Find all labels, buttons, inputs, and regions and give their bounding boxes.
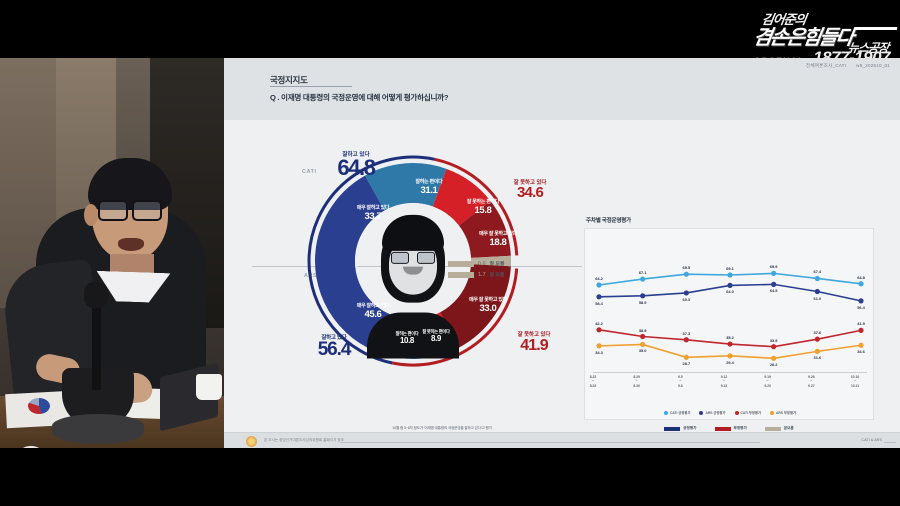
title-underline — [270, 86, 352, 87]
legend-dot-icon — [664, 411, 668, 415]
segment-label-ars-strong-positive: 매우 잘하고 있다 45.6 — [338, 304, 408, 320]
segment-label-ars-strong-negative: 매우 잘 못하고 있다 33.0 — [450, 298, 526, 314]
line-point-label: 56.4 — [857, 305, 865, 310]
segment-value: 8.9 — [422, 335, 450, 344]
total-negative-ars-value: 41.9 — [488, 338, 580, 353]
host-glasses-right-lens — [132, 200, 162, 221]
slide-meta-right: w5_202510_01 — [856, 63, 890, 69]
host-glasses-bridge — [128, 208, 134, 210]
legend-swatch-icon — [765, 427, 781, 431]
total-negative-cati: 잘 못하고 있다 34.6 — [484, 178, 576, 200]
donut-chart-legend: 긍정평가부정평가잘모름 — [584, 426, 874, 431]
dont-know-caption: 잘 모름 — [490, 260, 505, 267]
segment-value: 33.7 — [340, 212, 406, 222]
segment-value: 31.1 — [398, 186, 460, 196]
line-point-label: 37.3 — [683, 331, 691, 336]
line-point-label: 34.6 — [857, 349, 865, 354]
line-chart-card: 64.267.169.569.169.967.464.858.458.960.3… — [584, 228, 874, 420]
footer-right-label: CATI & ARS — [861, 438, 882, 442]
line-point-label: 28.7 — [683, 361, 691, 366]
segment-label-cati-strong-negative: 매우 잘 못하고 있다 18.8 — [460, 232, 536, 248]
legend-dot-icon — [770, 411, 774, 415]
desk-cup — [196, 374, 222, 400]
footer-emblem-icon — [246, 436, 257, 447]
line-point-label: 35.0 — [639, 348, 647, 353]
line-point-label: 58.9 — [639, 300, 647, 305]
legend-swatch-icon — [664, 427, 680, 431]
microphone-base — [52, 414, 144, 444]
line-chart-x-tick-labels: 8.22~8.238.29~8.309.5~9.69.12~9.139.19~9… — [593, 375, 867, 395]
line-point-label: 60.3 — [683, 297, 691, 302]
segment-value: 33.0 — [450, 304, 526, 314]
dont-know-value: 1.7 — [478, 272, 486, 278]
microphone-stem — [92, 294, 101, 390]
footer-divider-right — [884, 442, 896, 443]
studio-video-pane — [0, 58, 224, 448]
legend-swatch-icon — [715, 427, 731, 431]
segment-label-ars-negative: 잘 못하는 편이다 8.9 — [422, 330, 450, 344]
donut-legend-item: 긍정평가 — [664, 426, 696, 431]
dont-know-swatch — [448, 261, 474, 267]
line-x-tick: 9.26~9.27 — [796, 375, 826, 388]
legend-label: CATI 부정평가 — [741, 410, 762, 415]
slide-footer: 본 조사는 중앙선거여론조사심의위원회 홈페이지 참조 CATI & ARS — [224, 432, 900, 448]
slide-title: 국정지지도 — [270, 74, 308, 86]
line-point-label: 64.2 — [595, 276, 603, 281]
line-chart-x-axis — [593, 372, 867, 373]
line-point-label: 28.2 — [770, 362, 778, 367]
line-point-label: 67.4 — [814, 269, 822, 274]
line-point-label: 42.2 — [595, 321, 603, 326]
segment-value: 15.8 — [450, 206, 516, 216]
slide-meta-left: 전체여론조사_CATI — [806, 63, 846, 69]
line-x-tick: 8.22~8.23 — [578, 375, 608, 388]
line-point-label: 58.4 — [595, 301, 603, 306]
line-x-tick: 9.5~9.6 — [665, 375, 695, 388]
legend-label: ARS 긍정평가 — [705, 410, 725, 415]
line-x-tick: 10.10~10.11 — [840, 375, 870, 388]
donut-legend-item: 잘모름 — [765, 426, 794, 431]
footer-divider — [340, 442, 760, 443]
legend-label: 잘모름 — [784, 426, 794, 431]
line-point-label: 67.1 — [639, 270, 647, 275]
line-point-label: 34.3 — [595, 350, 603, 355]
donut-legend-item: 부정평가 — [715, 426, 747, 431]
segment-label-cati-strong-positive: 매우 잘하고 있다 33.7 — [340, 206, 406, 222]
line-point-label: 31.6 — [814, 355, 822, 360]
legend-label: ARS 부정평가 — [776, 410, 796, 415]
line-point-label: 38.9 — [639, 328, 647, 333]
line-point-label: 61.0 — [814, 296, 822, 301]
line-point-label: 33.9 — [770, 338, 778, 343]
paper-donut-graphic — [28, 398, 50, 414]
line-x-tick: 9.12~9.13 — [709, 375, 739, 388]
segment-value: 10.8 — [394, 337, 420, 346]
line-legend-item: CATI 긍정평가 — [664, 410, 691, 415]
total-positive-ars-value: 56.4 — [286, 341, 382, 359]
line-point-label: 37.6 — [814, 330, 822, 335]
total-negative-ars: 잘 못하고 있다 41.9 — [488, 330, 580, 353]
total-positive-cati: 잘하고 있다 64.8 — [308, 150, 404, 179]
legend-label: 긍정평가 — [683, 426, 696, 431]
line-point-label: 69.1 — [726, 266, 734, 271]
slide-meta: 전체여론조사_CATI w5_202510_01 — [806, 63, 890, 69]
slide-body: CATI ARS — [224, 120, 900, 432]
segment-label-cati-positive: 잘하는 편이다 31.1 — [398, 180, 460, 196]
dont-know-caption: 잘 모름 — [490, 271, 505, 278]
line-chart-title: 주차별 국정운영평가 — [586, 216, 631, 224]
screen: 김어준의 겸손은힘들다 뉴스공장 ARSENAL 1877-1907 — [0, 0, 900, 506]
dont-know-ars: 1.7 잘 모름 — [448, 271, 504, 278]
segment-label-ars-positive: 잘하는 편이다 10.8 — [394, 332, 420, 346]
line-x-tick: 9.19~9.20 — [753, 375, 783, 388]
line-point-label: 64.0 — [726, 289, 734, 294]
segment-label-cati-negative: 잘 못하는 편이다 15.8 — [450, 200, 516, 216]
slide-question: Q . 이재명 대통령의 국정운영에 대해 어떻게 평가하십니까? — [270, 92, 448, 103]
dont-know-swatch — [448, 272, 474, 278]
segment-value: 45.6 — [338, 310, 408, 320]
line-chart-legend: CATI 긍정평가ARS 긍정평가CATI 부정평가ARS 부정평가 — [585, 410, 875, 415]
legend-dot-icon — [735, 411, 739, 415]
line-point-label: 69.5 — [683, 265, 691, 270]
line-legend-item: CATI 부정평가 — [735, 410, 762, 415]
presentation-slide: 전체여론조사_CATI w5_202510_01 국정지지도 Q . 이재명 대… — [224, 58, 900, 448]
microphone-head — [84, 282, 108, 308]
line-point-label: 64.5 — [770, 288, 778, 293]
total-positive-cati-value: 64.8 — [308, 158, 404, 179]
total-positive-ars: 잘하고 있다 56.4 — [286, 336, 382, 359]
host-mouth — [118, 238, 144, 251]
legend-label: 부정평가 — [734, 426, 747, 431]
logo-line-2: 겸손은힘들다 — [752, 21, 855, 50]
line-legend-item: ARS 부정평가 — [770, 410, 796, 415]
dont-know-value: 0.6 — [478, 261, 486, 267]
line-x-tick: 8.29~8.30 — [622, 375, 652, 388]
donut-chart: CATI ARS — [252, 140, 582, 400]
line-point-label: 29.4 — [726, 360, 734, 365]
segment-value: 18.8 — [460, 238, 536, 248]
line-point-label: 35.2 — [726, 335, 734, 340]
line-point-label: 41.9 — [857, 321, 865, 326]
footer-note: 본 조사는 중앙선거여론조사심의위원회 홈페이지 참조 — [264, 438, 344, 443]
host-ear — [84, 204, 98, 226]
host-glasses-left-lens — [98, 200, 128, 221]
slide-header: 전체여론조사_CATI w5_202510_01 국정지지도 Q . 이재명 대… — [224, 58, 900, 120]
legend-dot-icon — [699, 411, 703, 415]
line-point-label: 64.8 — [857, 275, 865, 280]
legend-label: CATI 긍정평가 — [670, 410, 691, 415]
line-legend-item: ARS 긍정평가 — [699, 410, 725, 415]
line-point-label: 69.9 — [770, 264, 778, 269]
dont-know-cati: 0.6 잘 모름 — [448, 260, 504, 267]
